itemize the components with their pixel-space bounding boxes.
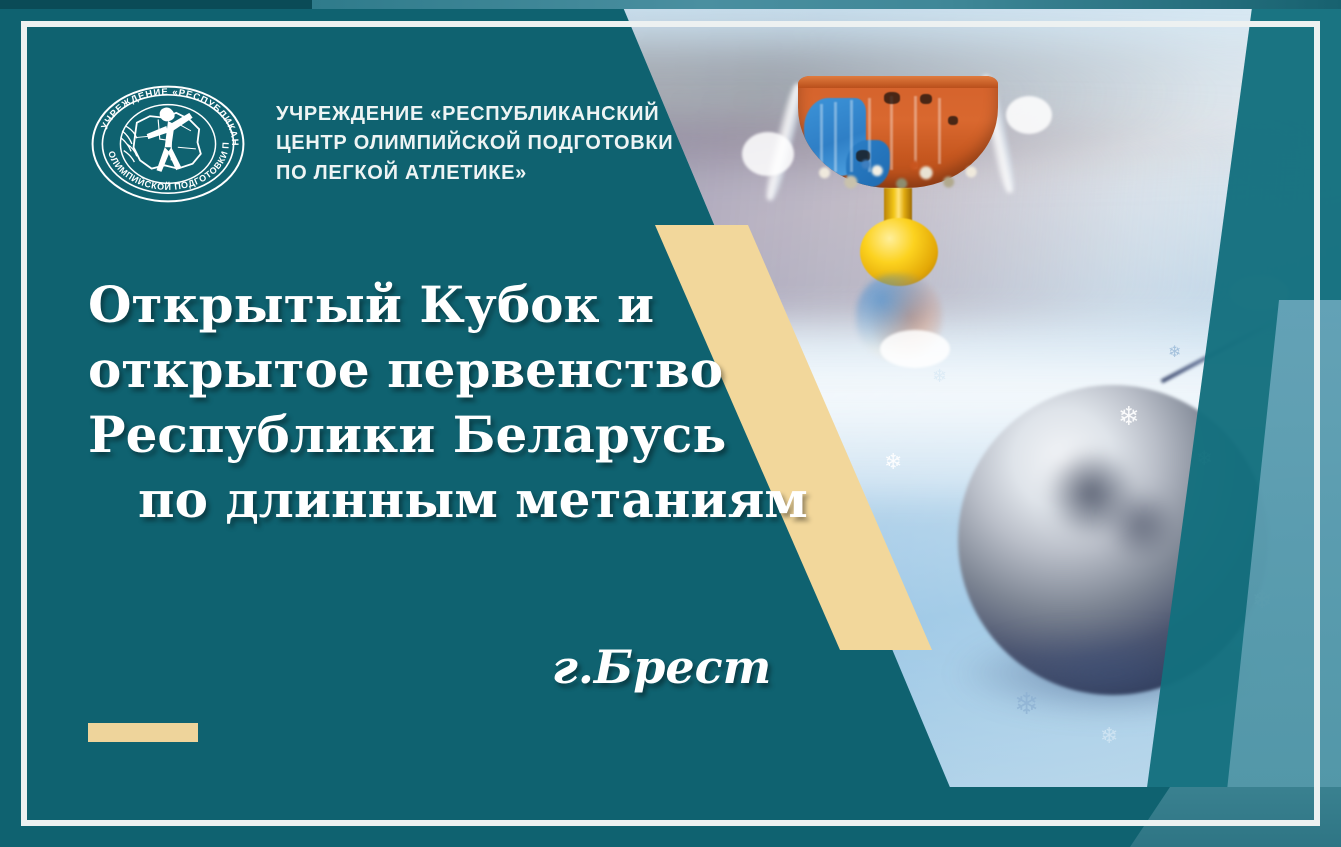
title-line-1: Открытый Кубок и — [88, 272, 788, 337]
title-line-4: по длинным метаниям — [88, 467, 788, 532]
organization-name: УЧРЕЖДЕНИЕ «РЕСПУБЛИКАНСКИЙ ЦЕНТР ОЛИМПИ… — [276, 100, 673, 188]
title-line-3: Республики Беларусь — [88, 402, 788, 467]
event-location: г.Брест — [552, 640, 771, 694]
title-line-2: открытое первенство — [88, 337, 788, 402]
top-tint-strip — [312, 0, 1341, 9]
poster-header: УЧРЕЖДЕНИЕ «РЕСПУБЛИКАНСКИЙ ЦЕНТР» ОЛИМП… — [86, 62, 673, 226]
belarus-athletics-emblem-icon: УЧРЕЖДЕНИЕ «РЕСПУБЛИКАНСКИЙ ЦЕНТР» ОЛИМП… — [86, 62, 250, 226]
event-poster: ❄ ❄ ❄ ❄ ❄ ❄ ❄ ❄ ❄ — [0, 0, 1341, 847]
top-dark-strip — [0, 0, 312, 9]
gold-accent-bar — [88, 723, 198, 742]
poster-title: Открытый Кубок и открытое первенство Рес… — [88, 272, 788, 532]
